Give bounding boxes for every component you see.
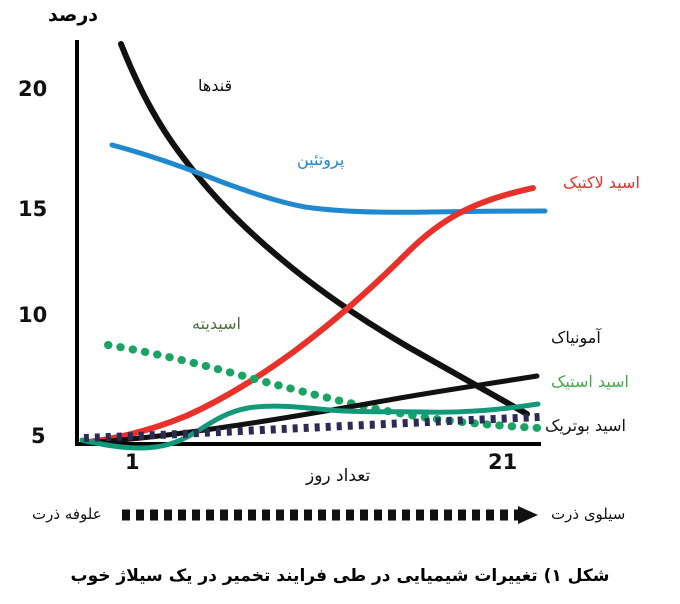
series-label-sugars: قندها [198,78,232,94]
series-label-butyric: اسید بوتریک [545,418,626,434]
timeline-label-right: سیلوی ذرت [551,505,625,523]
chart-plot-area [0,0,680,520]
timeline-arrow [120,503,540,527]
figure-root: درصد 20 15 10 5 1 21 تعداد روز قندها پرو… [0,0,680,604]
series-label-ammonia: آمونیاک [551,330,601,346]
figure-caption: شکل ۱) تغییرات شیمیایی در طی فرایند تخمی… [0,566,680,586]
timeline-label-left: علوفه ذرت [32,505,102,523]
series-label-acidity: اسیدیته [192,316,241,332]
series-line-lactic [89,188,533,442]
series-label-lactic: اسید لاکتیک [563,175,640,191]
series-label-protein: پروتئین [297,152,344,168]
series-label-acetic: اسید استیک [551,374,629,390]
timeline-arrowhead [518,506,538,524]
